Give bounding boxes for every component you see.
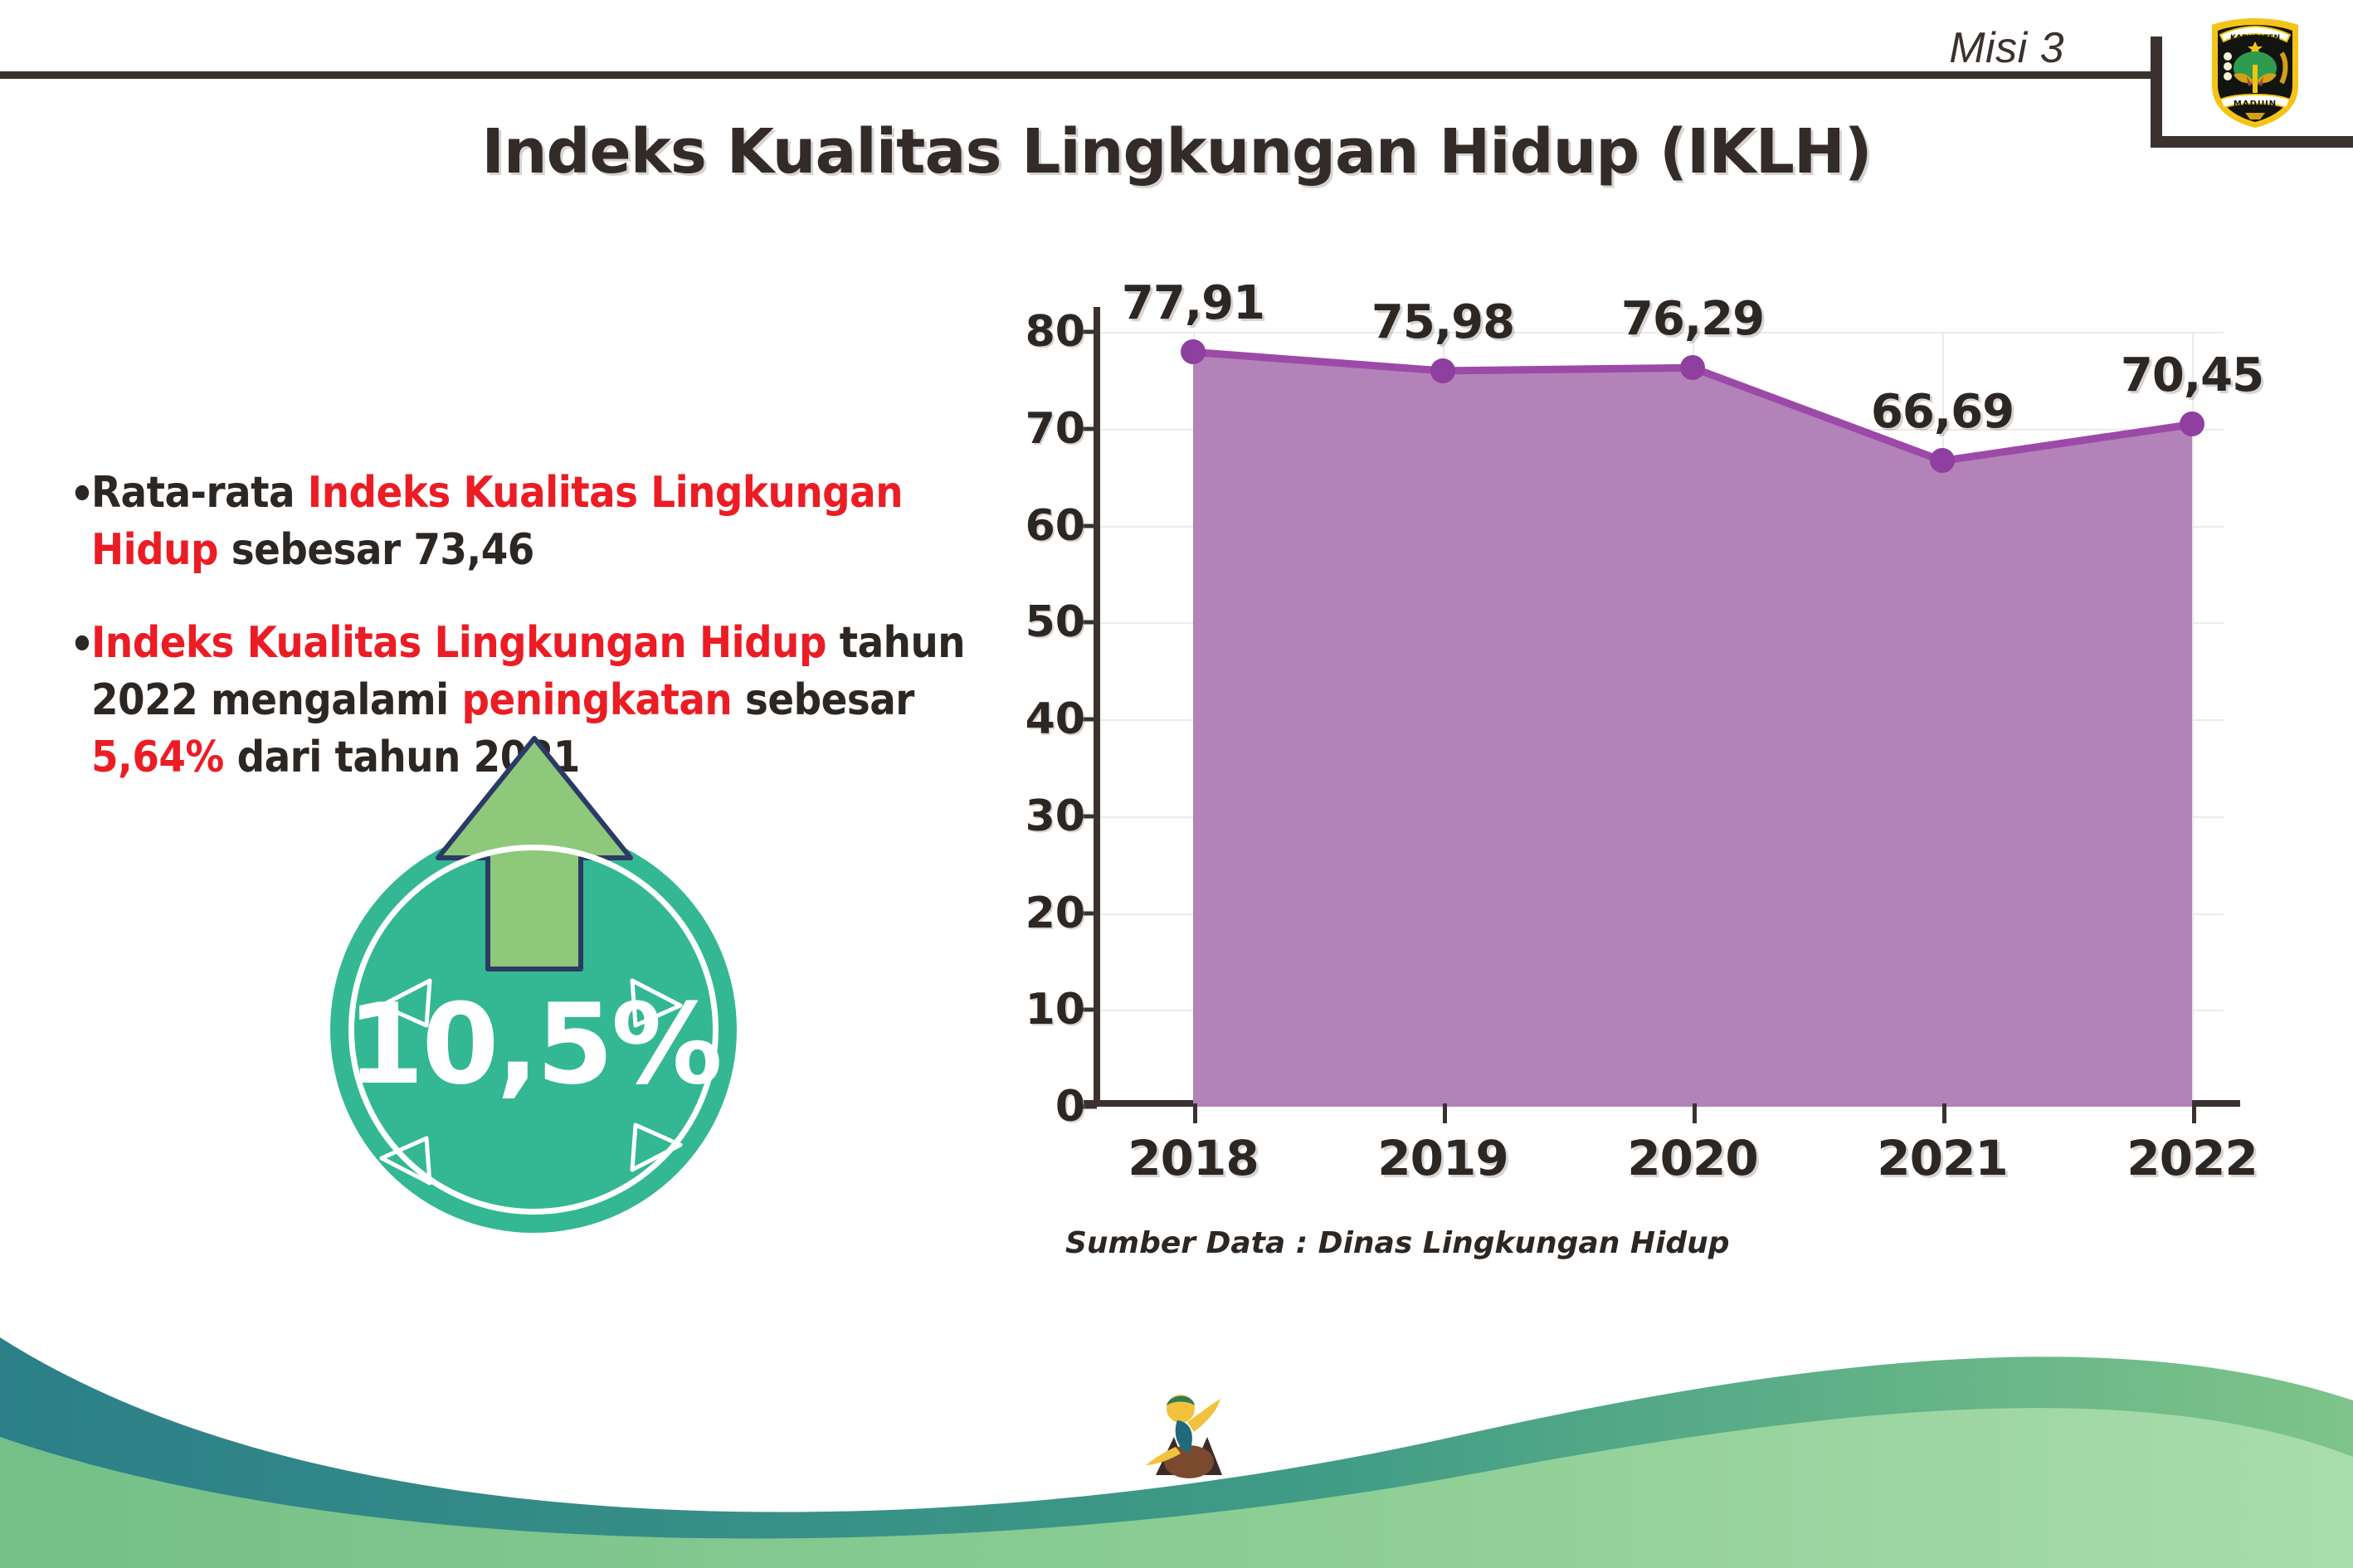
- misi-label: Misi 3: [1949, 23, 2064, 73]
- x-tick-mark: [1443, 1103, 1447, 1123]
- data-point-marker: [1430, 358, 1455, 383]
- y-tick-label: 70: [977, 404, 1085, 454]
- data-point-label: 70,45: [2121, 348, 2263, 402]
- page-title: Indeks Kualitas Lingkungan Hidup (IKLH): [0, 116, 2353, 187]
- bullet-text-1: Rata-rata Indeks Kualitas Lingkungan Hid…: [70, 465, 991, 578]
- data-point-label: 77,91: [1122, 276, 1264, 330]
- y-tick-label: 30: [977, 791, 1085, 841]
- list-item: • Rata-rata Indeks Kualitas Lingkungan H…: [70, 465, 991, 578]
- bullet-seg-highlight: 5,64%: [91, 733, 224, 782]
- bullet-dot: •: [70, 466, 94, 523]
- x-tick-mark: [2192, 1103, 2196, 1123]
- area-fill: [1193, 352, 2192, 1107]
- y-tick-label: 0: [977, 1082, 1085, 1132]
- y-tick-label: 20: [977, 889, 1085, 938]
- x-tick-label: 2021: [1877, 1130, 2007, 1186]
- bullet-seg: sebesar: [732, 675, 914, 725]
- data-point-label: 75,98: [1371, 295, 1514, 349]
- increase-badge: 10,5%: [330, 826, 737, 1233]
- corner-tick-bottom-left-icon: [378, 1135, 436, 1186]
- svg-text:KABUPATEN: KABUPATEN: [2230, 34, 2280, 42]
- infographic-slide: Misi 3 KABUPATEN MADIUN Indeks Kualitas …: [0, 0, 2353, 1568]
- x-tick-label: 2020: [1627, 1130, 1757, 1186]
- y-tick-label: 10: [977, 985, 1085, 1035]
- chart-area-series: [979, 299, 2240, 1186]
- x-tick-mark: [1942, 1103, 1946, 1123]
- data-point-marker: [1181, 339, 1206, 364]
- badge-value: 10,5%: [330, 989, 737, 1100]
- corner-tick-bottom-right-icon: [626, 1122, 684, 1173]
- bullet-seg: Rata-rata: [91, 468, 308, 518]
- iklh-area-chart: 01020304050607080 20182019202020212022 7…: [979, 299, 2240, 1186]
- data-point-label: 76,29: [1621, 292, 1764, 346]
- x-tick-mark: [1693, 1103, 1697, 1123]
- data-point-marker: [1930, 448, 1955, 473]
- bullet-seg: sebesar 73,46: [218, 525, 534, 575]
- y-tick-label: 80: [977, 307, 1085, 357]
- y-tick-label: 40: [977, 694, 1085, 744]
- x-tick-label: 2019: [1377, 1130, 1508, 1186]
- data-point-marker: [1680, 355, 1705, 380]
- source-note: Sumber Data : Dinas Lingkungan Hidup: [1065, 1226, 1730, 1260]
- data-point-marker: [2180, 411, 2204, 436]
- y-tick-label: 60: [977, 501, 1085, 551]
- media-infografis-logo-icon: [1141, 1385, 1237, 1492]
- svg-text:MADIUN: MADIUN: [2234, 100, 2277, 109]
- kabupaten-madiun-crest-icon: KABUPATEN MADIUN: [2205, 13, 2305, 131]
- header-rule: [0, 71, 2154, 79]
- x-tick-label: 2018: [1128, 1130, 1258, 1186]
- y-tick-label: 50: [977, 597, 1085, 647]
- data-point-label: 66,69: [1871, 385, 2014, 439]
- bullet-seg-highlight: peningkatan: [461, 675, 732, 725]
- x-tick-label: 2022: [2126, 1130, 2257, 1186]
- bullet-seg-highlight: Indeks Kualitas Lingkungan Hidup: [91, 618, 826, 668]
- x-tick-mark: [1193, 1103, 1197, 1123]
- bullet-dot: •: [70, 616, 94, 674]
